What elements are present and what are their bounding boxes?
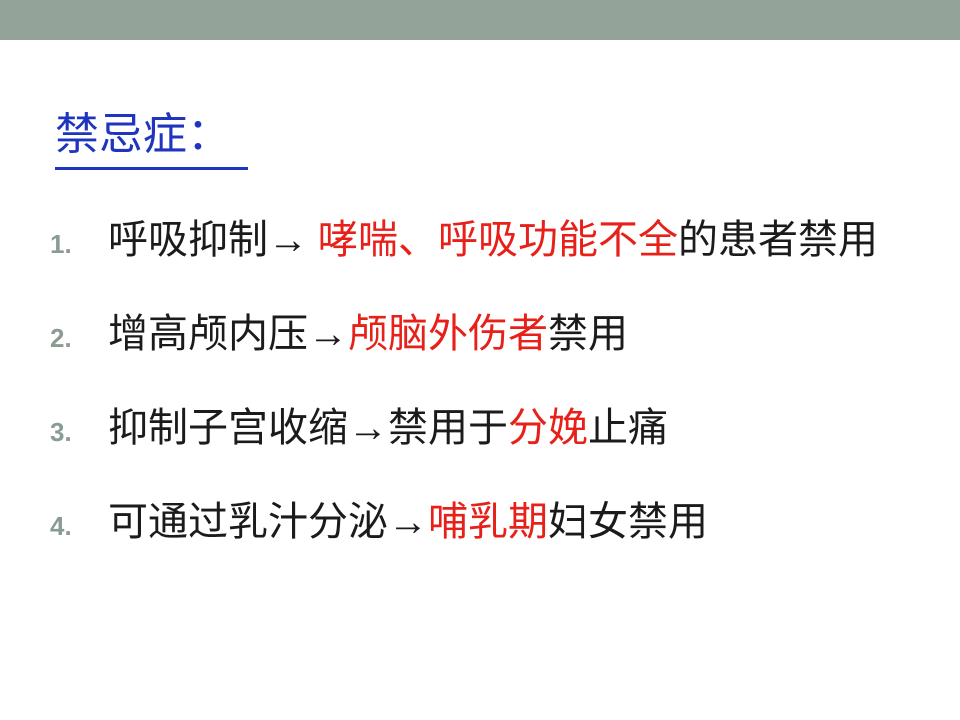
list-item: 1.呼吸抑制→ 哮喘、呼吸功能不全的患者禁用 — [0, 212, 960, 306]
text-segment: 止痛 — [588, 405, 668, 450]
text-segment: 哮喘、呼吸功能不全 — [308, 217, 678, 262]
arrow-icon: → — [348, 405, 388, 450]
slide-canvas: 禁忌症： 1.呼吸抑制→ 哮喘、呼吸功能不全的患者禁用2.增高颅内压→颅脑外伤者… — [0, 0, 960, 720]
text-segment: 禁用 — [548, 311, 628, 356]
list-item-text: 增高颅内压→颅脑外伤者禁用 — [108, 306, 960, 362]
text-segment: 呼吸抑制 — [108, 217, 268, 262]
list-item-text: 可通过乳汁分泌→哺乳期妇女禁用 — [108, 494, 960, 550]
text-segment: 增高颅内压 — [108, 311, 308, 356]
arrow-icon: → — [388, 499, 428, 544]
slide-top-bar — [0, 0, 960, 40]
list-item: 3.抑制子宫收缩→禁用于分娩止痛 — [0, 400, 960, 494]
list-item-text: 抑制子宫收缩→禁用于分娩止痛 — [108, 400, 960, 456]
text-segment: 的患者禁用 — [678, 217, 878, 262]
text-segment: 禁用于 — [388, 405, 508, 450]
arrow-icon: → — [268, 217, 308, 262]
text-segment: 妇女禁用 — [548, 499, 708, 544]
list-item: 4.可通过乳汁分泌→哺乳期妇女禁用 — [0, 494, 960, 588]
text-segment: 哺乳期 — [428, 499, 548, 544]
contraindication-list: 1.呼吸抑制→ 哮喘、呼吸功能不全的患者禁用2.增高颅内压→颅脑外伤者禁用3.抑… — [0, 212, 960, 588]
list-item-number: 1. — [50, 224, 98, 264]
list-item-number: 3. — [50, 412, 98, 452]
list-item-text: 呼吸抑制→ 哮喘、呼吸功能不全的患者禁用 — [108, 212, 960, 268]
page-title: 禁忌症： — [55, 109, 248, 170]
text-segment: 分娩 — [508, 405, 588, 450]
list-item-number: 4. — [50, 506, 98, 546]
text-segment: 抑制子宫收缩 — [108, 405, 348, 450]
text-segment: 颅脑外伤者 — [348, 311, 548, 356]
text-segment: 可通过乳汁分泌 — [108, 499, 388, 544]
list-item: 2.增高颅内压→颅脑外伤者禁用 — [0, 306, 960, 400]
list-item-number: 2. — [50, 318, 98, 358]
arrow-icon: → — [308, 311, 348, 356]
